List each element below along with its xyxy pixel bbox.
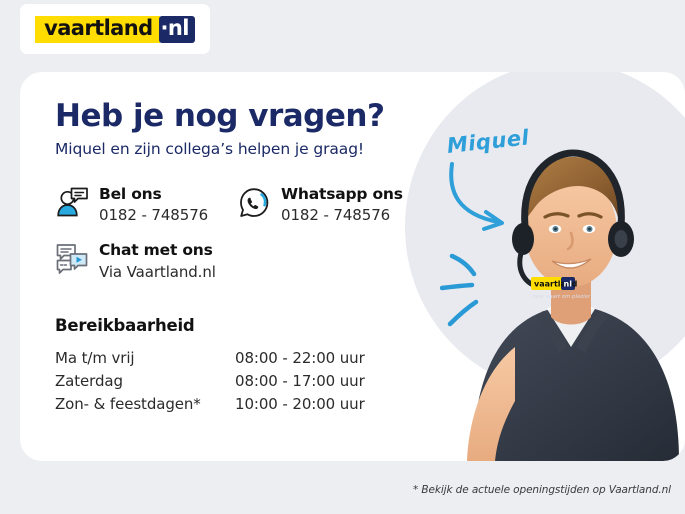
pupil-right xyxy=(588,228,591,231)
person-speech-bubble-icon xyxy=(55,186,89,222)
shirt-logo-tagline: daar vaart om plezier xyxy=(532,294,591,300)
headset-earcup-right-inner xyxy=(615,230,628,248)
pupil-left xyxy=(554,228,557,231)
chat-bubbles-icon xyxy=(55,242,89,278)
availability-day: Ma t/m vrij xyxy=(55,346,235,369)
card-content: Heb je nog vragen? Miquel en zijn colleg… xyxy=(55,100,435,415)
card-clip: vaartland nl daar vaart om plezier Mique… xyxy=(20,72,685,461)
contact-call-title: Bel ons xyxy=(99,185,162,203)
logo-wordmark: vaartland xyxy=(44,18,152,39)
logo-tld-block: ·nl xyxy=(159,16,195,43)
logo-tld: ·nl xyxy=(161,18,189,39)
availability-day: Zaterdag xyxy=(55,369,235,392)
contact-whatsapp-title: Whatsapp ons xyxy=(281,185,403,203)
availability-table: Ma t/m vrij 08:00 - 22:00 uur Zaterdag 0… xyxy=(55,346,365,415)
contact-whatsapp-text: Whatsapp ons 0182 - 748576 xyxy=(281,185,403,226)
contact-chat-value[interactable]: Via Vaartland.nl xyxy=(99,263,216,283)
availability-time: 10:00 - 20:00 uur xyxy=(235,392,365,415)
contact-chat-title: Chat met ons xyxy=(99,241,213,259)
footnote: * Bekijk de actuele openingstijden op Va… xyxy=(413,484,671,496)
availability-section: Bereikbaarheid Ma t/m vrij 08:00 - 22:00… xyxy=(55,316,435,415)
page-title: Heb je nog vragen? xyxy=(55,100,435,133)
availability-time: 08:00 - 22:00 uur xyxy=(235,346,365,369)
contact-methods: Bel ons 0182 - 748576 xyxy=(55,185,435,283)
contact-row-top: Bel ons 0182 - 748576 xyxy=(55,185,435,226)
contact-chat-text: Chat met ons Via Vaartland.nl xyxy=(99,241,216,282)
whatsapp-icon xyxy=(237,186,271,222)
availability-title: Bereikbaarheid xyxy=(55,316,435,335)
table-row: Ma t/m vrij 08:00 - 22:00 uur xyxy=(55,346,365,369)
table-row: Zon- & feestdagen* 10:00 - 20:00 uur xyxy=(55,392,365,415)
curved-arrow-icon xyxy=(438,158,548,238)
logo-wordmark-block: vaartland xyxy=(35,16,159,43)
logo-lockup: vaartland ·nl xyxy=(35,16,195,43)
availability-day: Zon- & feestdagen* xyxy=(55,392,235,415)
contact-chat[interactable]: Chat met ons Via Vaartland.nl xyxy=(55,241,315,282)
shirt-logo-tld: nl xyxy=(564,280,573,289)
availability-time: 08:00 - 17:00 uur xyxy=(235,369,365,392)
promo-banner: vaartland ·nl xyxy=(0,0,685,514)
contact-whatsapp[interactable]: Whatsapp ons 0182 - 748576 xyxy=(237,185,427,226)
contact-whatsapp-value[interactable]: 0182 - 748576 xyxy=(281,206,403,226)
page-subtitle: Miquel en zijn collega’s helpen je graag… xyxy=(55,140,435,158)
contact-call-text: Bel ons 0182 - 748576 xyxy=(99,185,208,226)
contact-call[interactable]: Bel ons 0182 - 748576 xyxy=(55,185,237,226)
content-card: vaartland nl daar vaart om plezier Mique… xyxy=(20,72,685,461)
contact-call-value[interactable]: 0182 - 748576 xyxy=(99,206,208,226)
brand-logo[interactable]: vaartland ·nl xyxy=(20,4,210,54)
emphasis-dashes-icon xyxy=(440,244,530,334)
table-row: Zaterdag 08:00 - 17:00 uur xyxy=(55,369,365,392)
